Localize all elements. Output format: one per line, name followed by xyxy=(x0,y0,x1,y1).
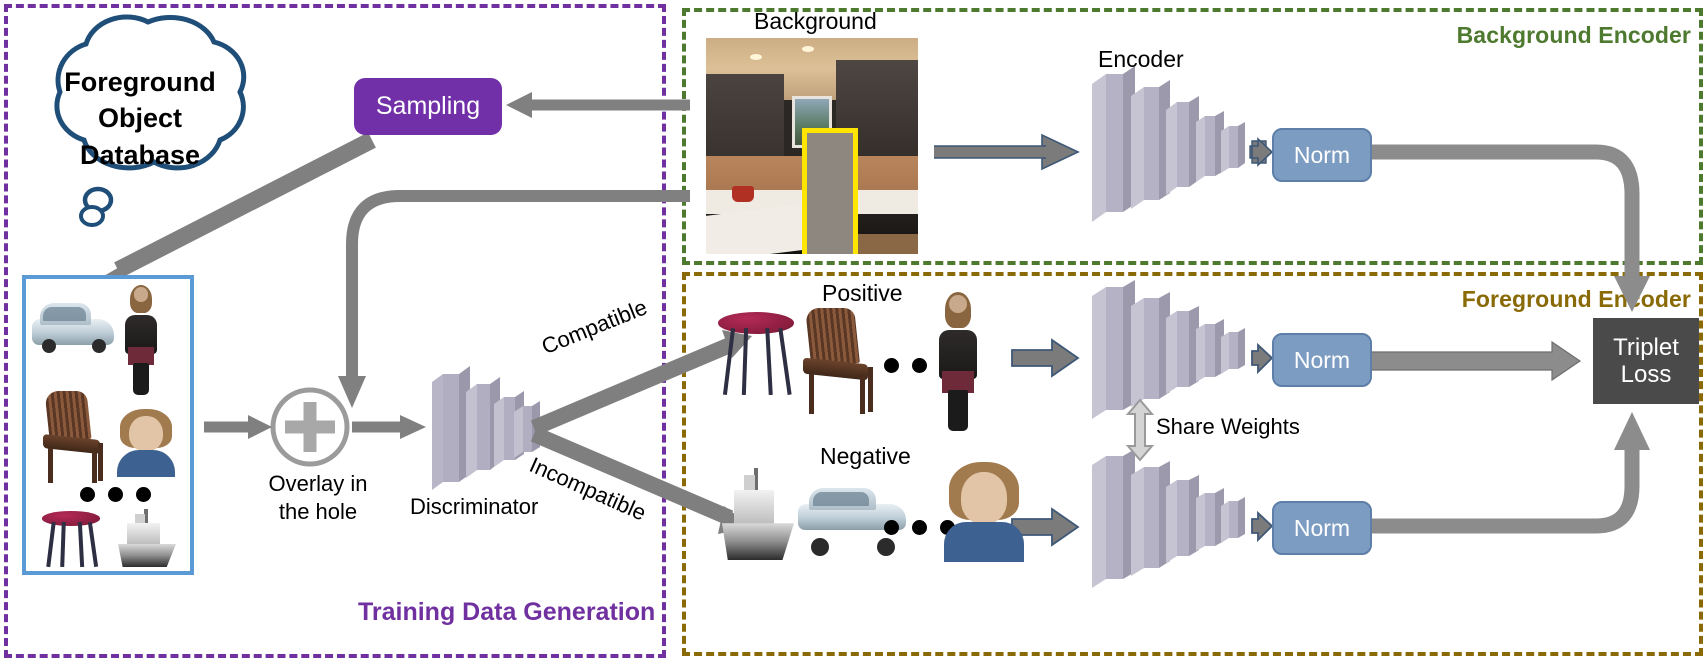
object-database-panel[interactable] xyxy=(22,275,194,575)
diagram-canvas: Background Encoder Foreground Encoder Tr… xyxy=(0,0,1707,662)
thumb-stool xyxy=(42,511,100,567)
sampling-label: Sampling xyxy=(376,92,480,121)
negative-row-label: Negative xyxy=(820,443,911,470)
negative-thumb-woman-face xyxy=(940,462,1028,562)
norm-node-background[interactable]: Norm xyxy=(1272,128,1372,182)
object-database-ellipsis xyxy=(80,487,151,502)
dot xyxy=(80,487,95,502)
discriminator-label: Discriminator xyxy=(410,494,538,520)
group-label-training-data-generation: Training Data Generation xyxy=(358,598,655,627)
thumb-car xyxy=(32,301,114,353)
cloud-line-2: Object xyxy=(40,100,240,136)
norm-label: Norm xyxy=(1294,142,1350,169)
share-weights-label: Share Weights xyxy=(1156,414,1300,440)
cloud-text: Foreground Object Database xyxy=(40,64,240,173)
cloud-line-3: Database xyxy=(40,137,240,173)
encoder-label: Encoder xyxy=(1098,46,1184,73)
background-image[interactable] xyxy=(706,38,918,254)
overlay-label-line-2: the hole xyxy=(258,498,378,526)
sampling-node[interactable]: Sampling xyxy=(354,78,502,135)
background-image-label: Background xyxy=(754,8,877,35)
positive-thumb-stool xyxy=(718,312,794,396)
thumb-woman-walking xyxy=(118,287,164,395)
dot xyxy=(912,358,927,373)
thumb-woman-face xyxy=(114,409,178,477)
dot xyxy=(912,520,927,535)
cloud-line-1: Foreground xyxy=(40,64,240,100)
norm-node-negative[interactable]: Norm xyxy=(1272,501,1372,555)
dot xyxy=(884,358,899,373)
dot xyxy=(136,487,151,502)
positive-row-label: Positive xyxy=(822,280,903,307)
norm-label: Norm xyxy=(1294,347,1350,374)
dot xyxy=(108,487,123,502)
group-label-background-encoder: Background Encoder xyxy=(1457,22,1691,49)
overlay-label: Overlay in the hole xyxy=(258,470,378,526)
norm-node-positive[interactable]: Norm xyxy=(1272,333,1372,387)
background-hole-region[interactable] xyxy=(802,128,858,254)
group-label-foreground-encoder: Foreground Encoder xyxy=(1462,286,1691,313)
thumb-chair xyxy=(40,391,106,483)
positive-thumb-woman-walking xyxy=(930,295,986,431)
norm-label: Norm xyxy=(1294,515,1350,542)
foreground-object-database-cloud: Foreground Object Database xyxy=(14,18,274,238)
negative-thumb-ship xyxy=(722,468,794,560)
triplet-loss-node[interactable]: Triplet Loss xyxy=(1593,318,1699,404)
thumb-ship xyxy=(118,509,176,567)
positive-thumb-chair xyxy=(800,308,876,414)
triplet-loss-line-1: Triplet xyxy=(1613,334,1679,361)
triplet-loss-line-2: Loss xyxy=(1621,361,1672,388)
overlay-label-line-1: Overlay in xyxy=(258,470,378,498)
dot xyxy=(884,520,899,535)
